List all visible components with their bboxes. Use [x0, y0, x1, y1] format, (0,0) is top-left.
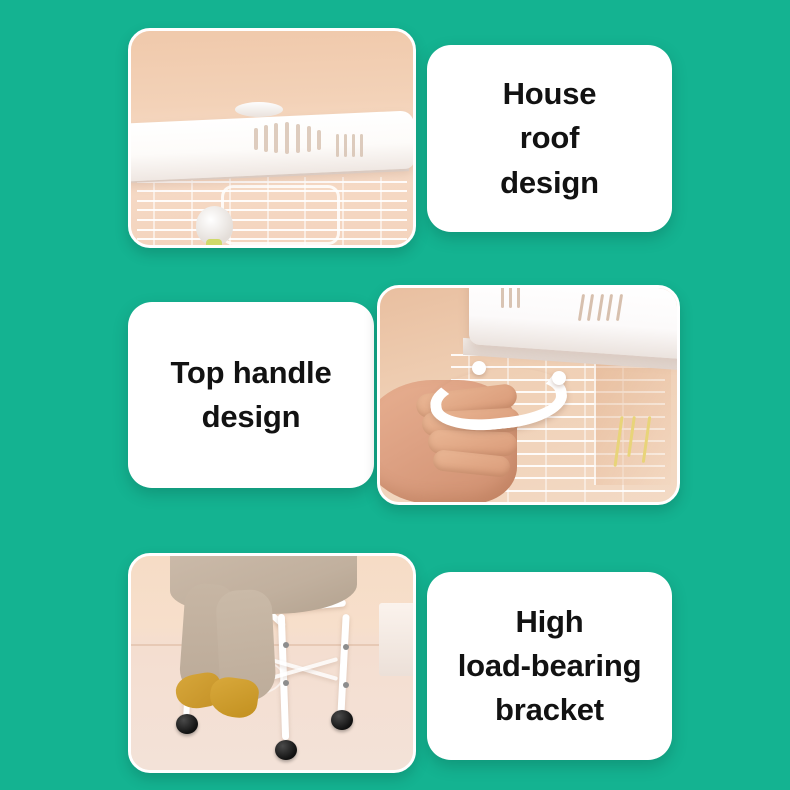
roof-side-vent-slots	[334, 132, 368, 160]
feature-photo-top-handle-design	[377, 285, 680, 505]
roof-vent-slots	[252, 121, 325, 155]
bedding-straw	[612, 416, 665, 467]
feature-caption-card-house-roof-design: House roof design	[427, 45, 672, 232]
stand-screw	[283, 642, 289, 648]
stand-screw	[343, 644, 349, 650]
feature-photo-house-roof-design	[128, 28, 416, 248]
roof-side-vent-slots	[576, 292, 624, 324]
feature-caption-text: Top handle design	[170, 351, 331, 439]
stand-leg	[337, 614, 349, 717]
feature-caption-card-top-handle-design: Top handle design	[128, 302, 374, 488]
caster-wheel	[275, 740, 297, 760]
roof-vent-slots	[499, 286, 526, 310]
water-bottle	[196, 206, 233, 245]
roof-knob	[235, 102, 283, 117]
feature-caption-card-high-load-bearing-bracket: High load-bearing bracket	[427, 572, 672, 760]
infographic-stage: House roof design Top handle design	[0, 0, 790, 790]
stand-screw	[343, 682, 349, 688]
cage-door	[221, 185, 339, 245]
feature-photo-high-load-bearing-bracket	[128, 553, 416, 773]
feature-caption-text: House roof design	[500, 72, 599, 204]
handle-hinge	[472, 361, 486, 375]
feature-caption-text: High load-bearing bracket	[458, 600, 642, 732]
